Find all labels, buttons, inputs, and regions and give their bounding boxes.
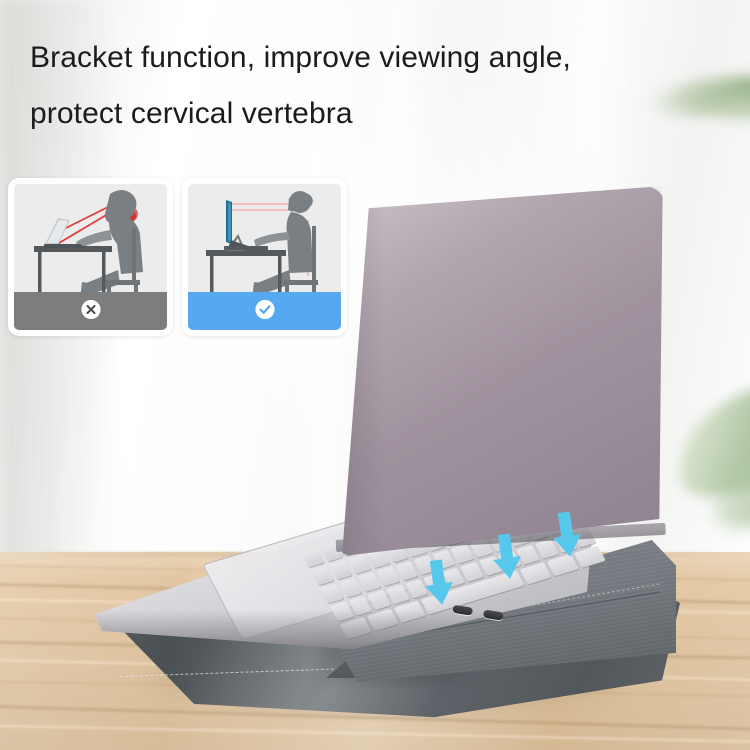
panel-bad-posture[interactable] xyxy=(8,178,173,336)
posture-comparison xyxy=(8,178,347,336)
cross-icon xyxy=(81,300,100,319)
usb-port-icon xyxy=(452,605,473,616)
usb-port-icon xyxy=(483,610,504,621)
laptop-lid xyxy=(332,186,666,556)
down-arrow-icon xyxy=(489,532,525,582)
down-arrow-icon xyxy=(421,558,457,608)
down-arrow-icon xyxy=(549,510,585,560)
page-title: Bracket function, improve viewing angle,… xyxy=(30,30,720,142)
product-banner: Bracket function, improve viewing angle,… xyxy=(0,0,750,750)
panel-good-posture[interactable] xyxy=(182,178,347,336)
check-icon xyxy=(255,300,274,319)
